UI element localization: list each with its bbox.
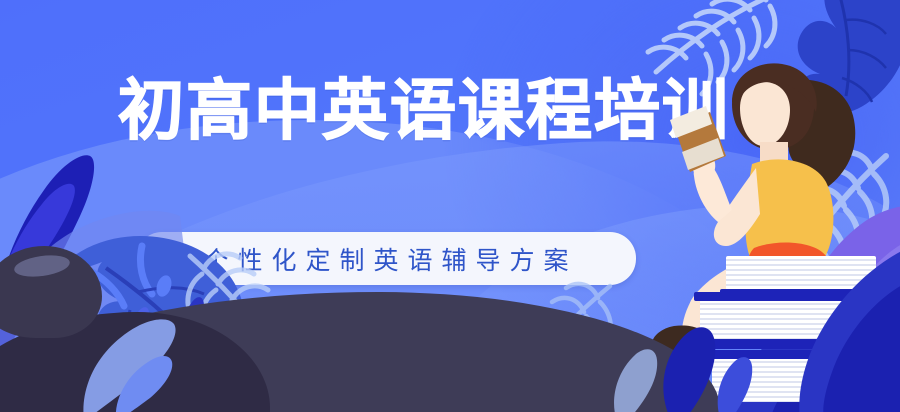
promo-banner: 初高中英语课程培训 个性化定制英语辅导方案 [0,0,900,412]
navy-teardrop-leaves-icon [600,288,780,412]
light-leaf-foreground-icon [74,302,224,412]
